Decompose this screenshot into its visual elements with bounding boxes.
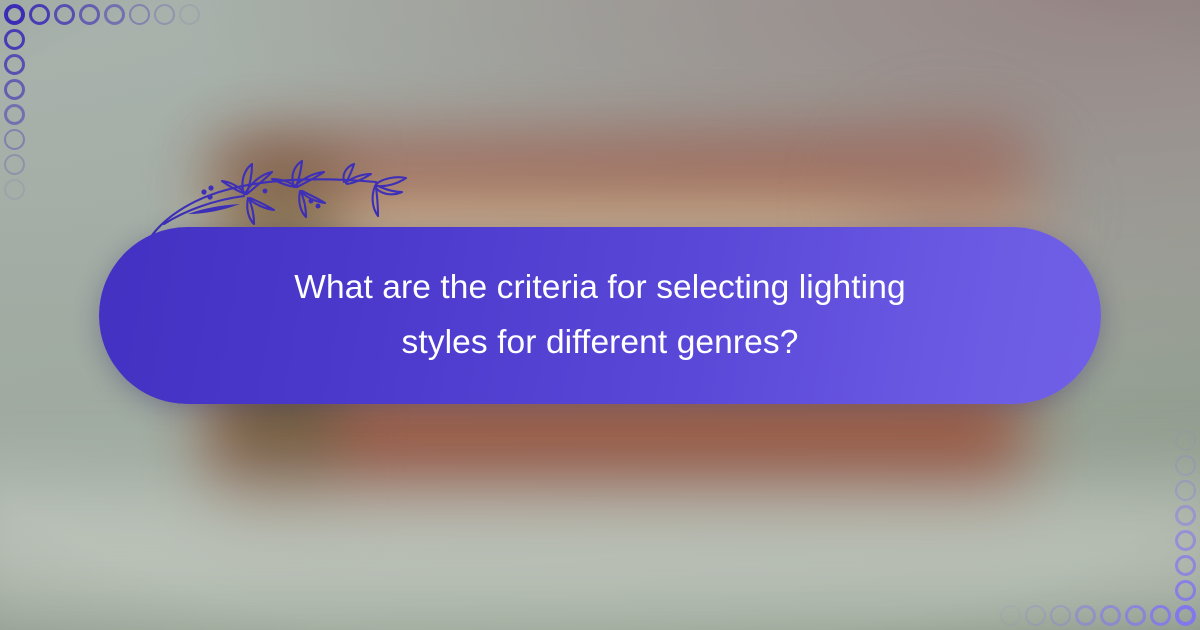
quote-pill: What are the criteria for selecting ligh… [99, 227, 1101, 404]
quote-text: What are the criteria for selecting ligh… [230, 261, 970, 370]
quote-card: What are the criteria for selecting ligh… [0, 0, 1200, 630]
